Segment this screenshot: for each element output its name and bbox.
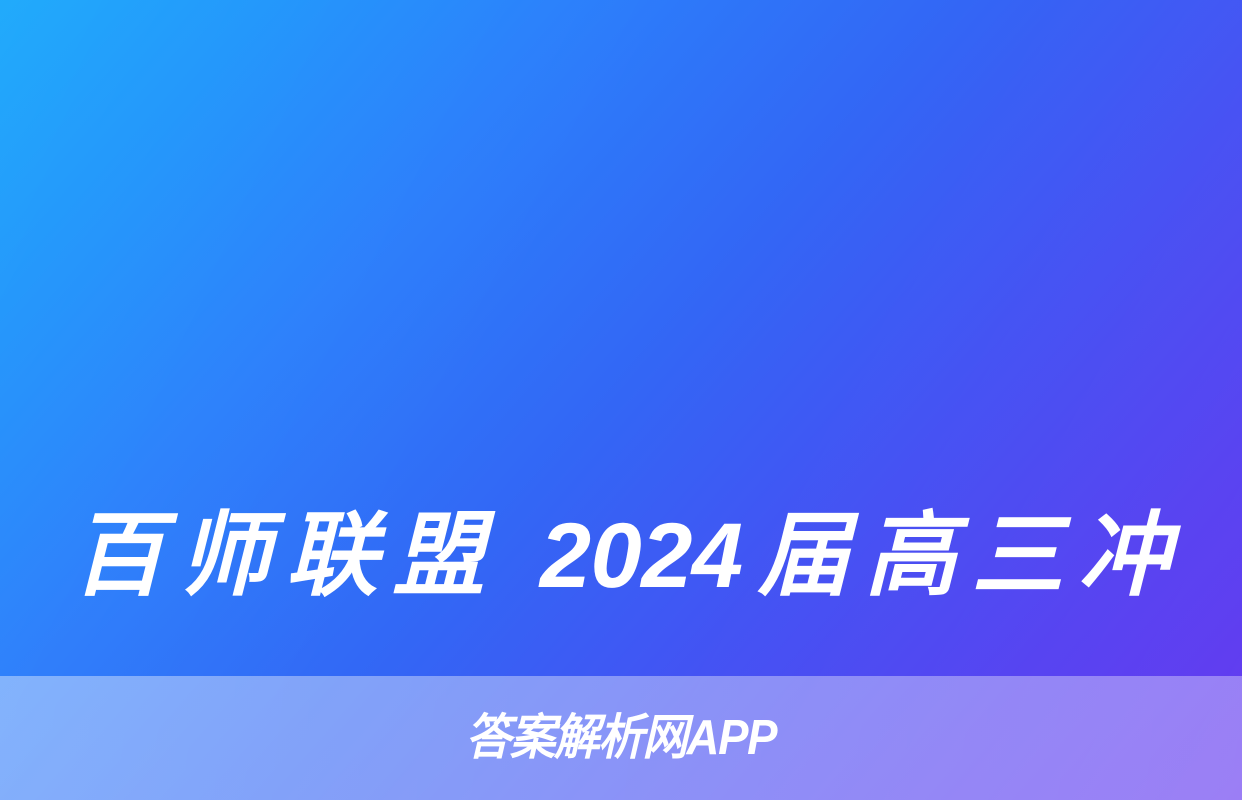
page-title-line-1: 百师联盟 2024届高三冲 (72, 480, 1170, 632)
title-card: 百师联盟 2024届高三冲 刺卷(五)5 新高考卷语文 试题 答案解析网APP (0, 0, 1242, 800)
watermark-band: 答案解析网APP (0, 676, 1242, 800)
watermark-label: 答案解析网APP (466, 714, 776, 763)
